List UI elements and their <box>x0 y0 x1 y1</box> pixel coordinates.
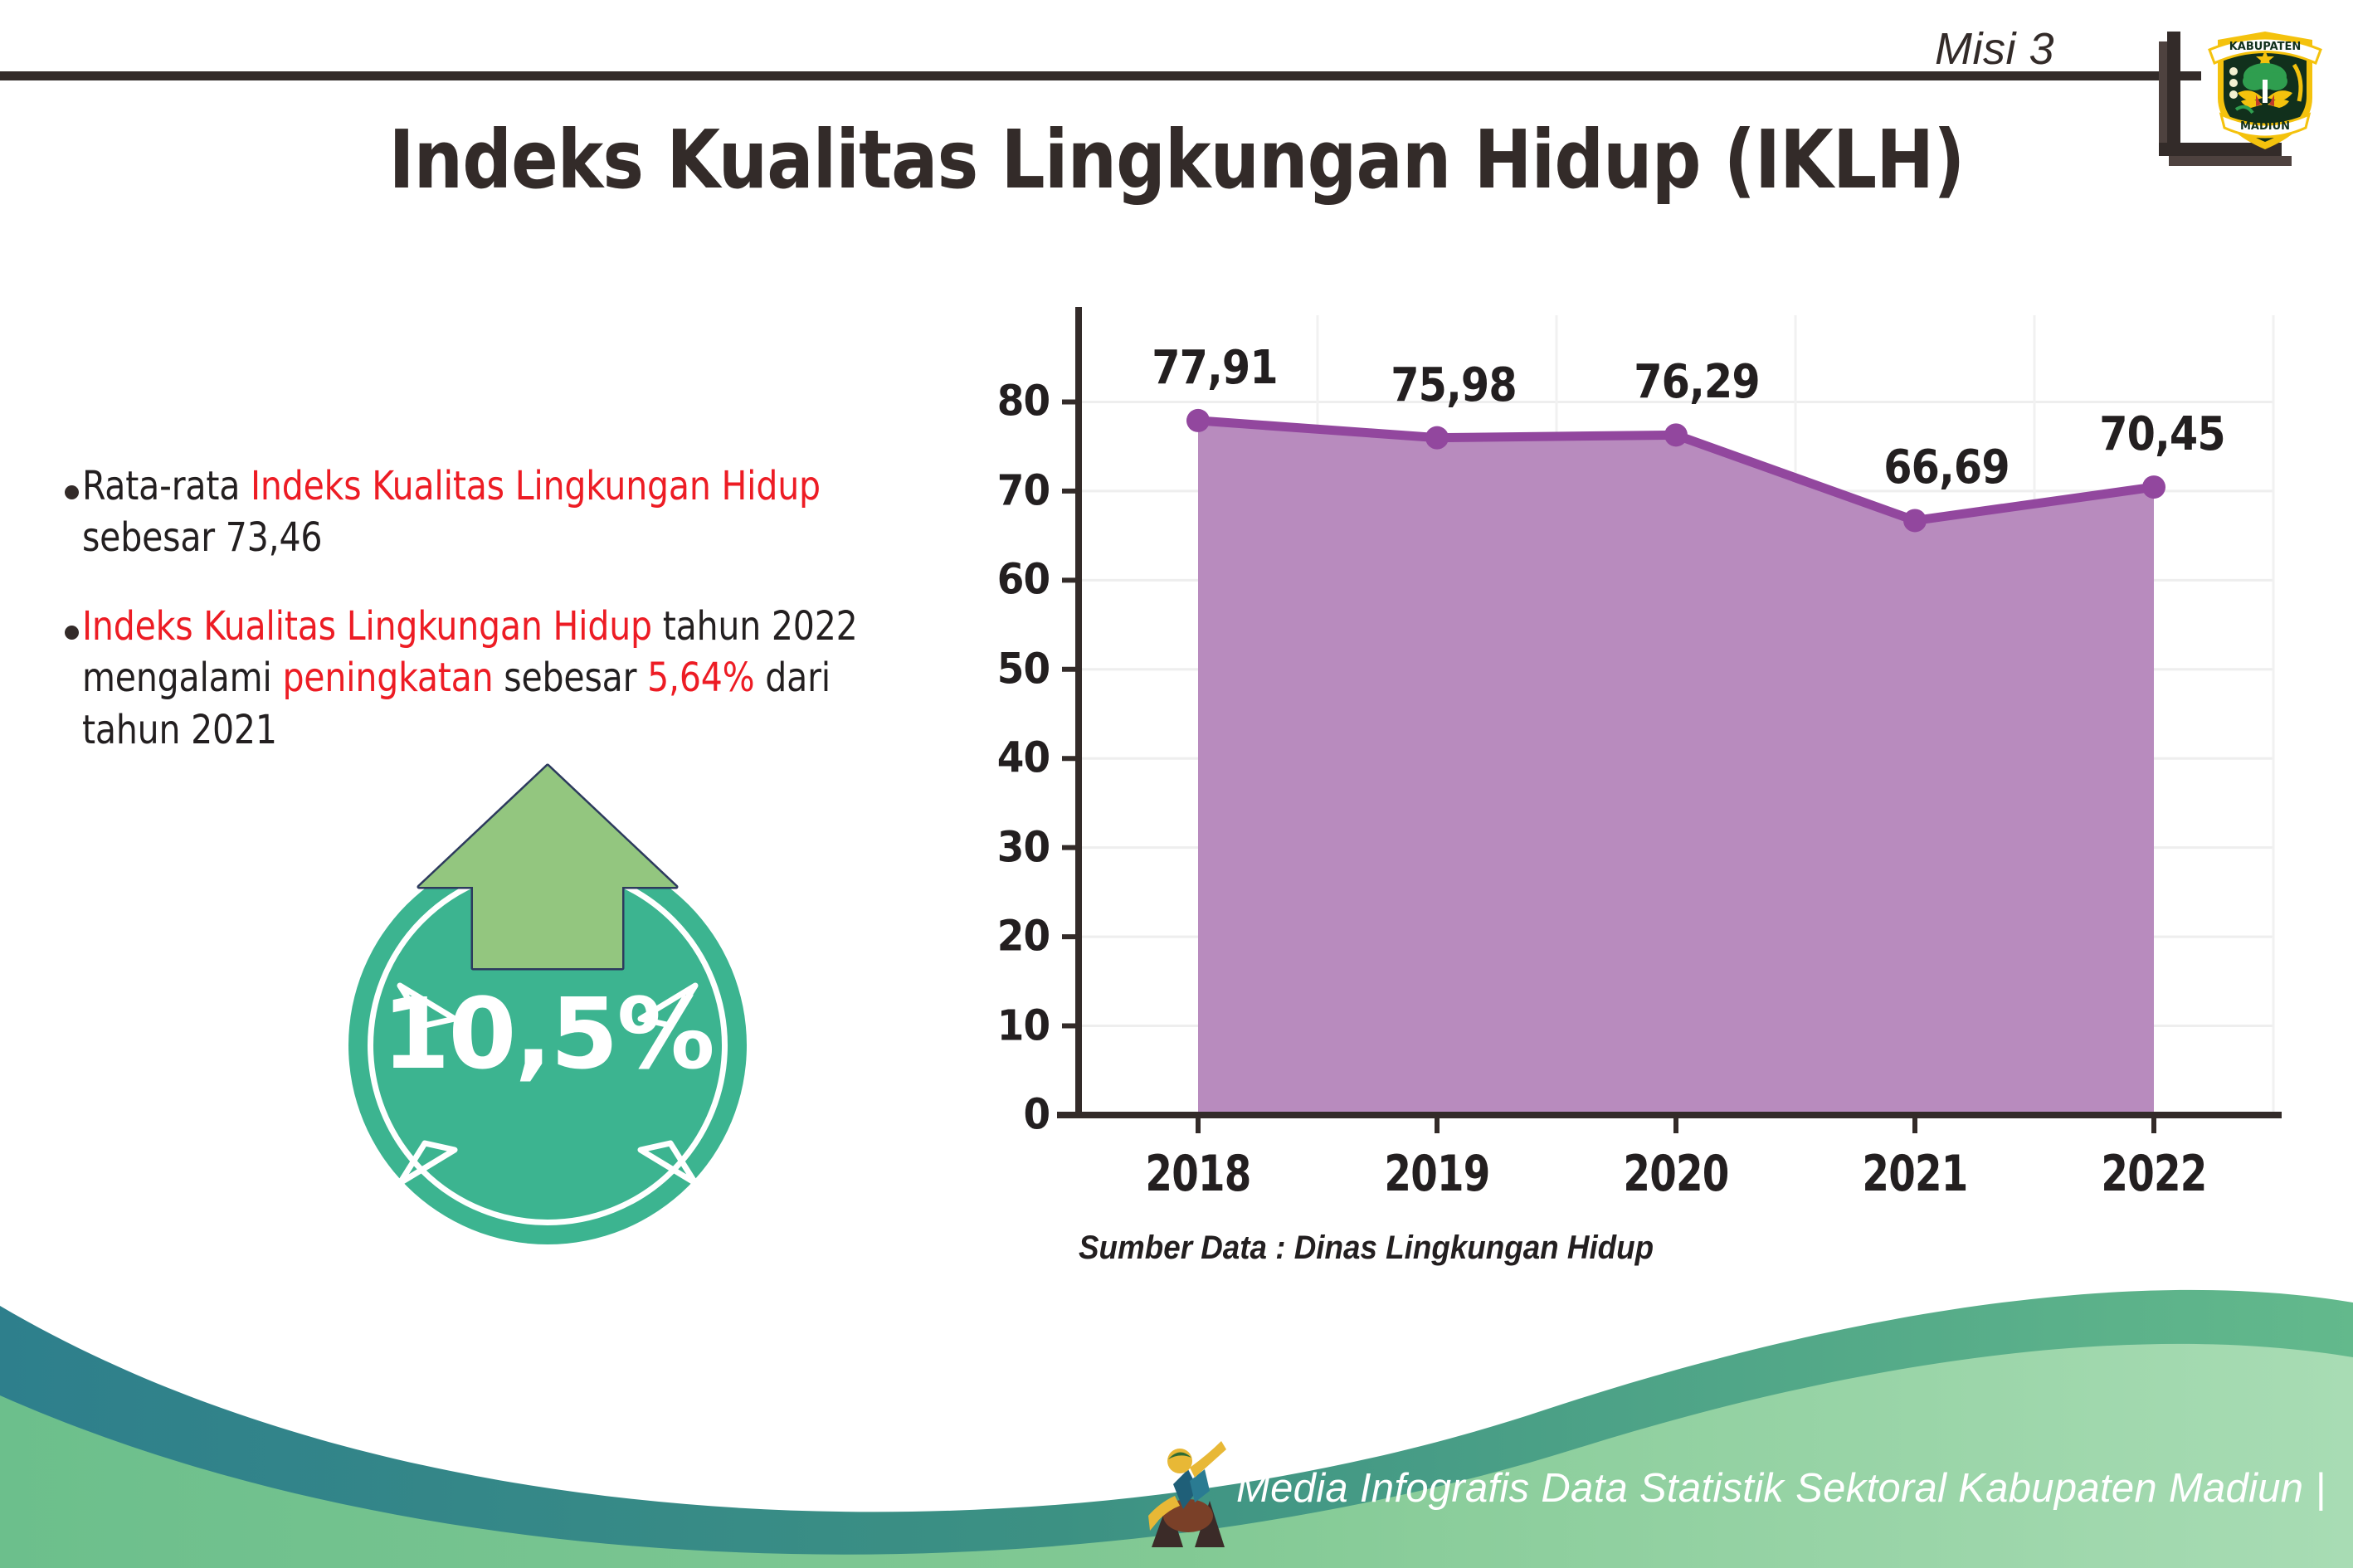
iklh-area-chart: 01020304050607080 20182019202020212022 7… <box>971 299 2290 1195</box>
y-axis-tick-label: 70 <box>958 466 1050 515</box>
y-axis-tick-label: 20 <box>958 913 1050 962</box>
y-axis-tick-label: 60 <box>958 556 1050 605</box>
y-axis-tick-label: 80 <box>958 377 1050 426</box>
data-point-label: 77,91 <box>1127 341 1302 395</box>
header-rule <box>0 71 2201 80</box>
bullet-text: Rata-rata Indeks Kualitas Lingkungan Hid… <box>82 460 901 564</box>
y-axis-tick-label: 40 <box>958 734 1050 783</box>
badge-value: 10,5% <box>328 976 767 1091</box>
y-axis-tick-label: 50 <box>958 645 1050 694</box>
footer: Media Infografis Data Statistik Sektoral… <box>0 1286 2353 1568</box>
bullet-plain: sebesar <box>493 655 647 701</box>
x-axis-tick-label: 2018 <box>1114 1145 1283 1203</box>
bullet-item: Indeks Kualitas Lingkungan Hidup tahun 2… <box>65 601 944 756</box>
y-axis-tick-label: 10 <box>958 1001 1050 1050</box>
bullet-plain: Rata-rata <box>82 463 251 509</box>
kabupaten-madiun-crest-icon: KABUPATEN MADIUN <box>2203 22 2327 154</box>
data-point-label: 70,45 <box>2074 407 2249 461</box>
bullet-dot-icon <box>65 485 79 499</box>
bullet-item: Rata-rata Indeks Kualitas Lingkungan Hid… <box>65 460 944 564</box>
bullet-highlight: peningkatan <box>282 655 493 701</box>
growth-badge: 10,5% <box>328 759 767 1232</box>
source-note: Sumber Data : Dinas Lingkungan Hidup <box>1079 1230 1654 1267</box>
y-axis-tick-label: 0 <box>958 1091 1050 1140</box>
x-axis-tick-label: 2022 <box>2070 1145 2239 1203</box>
x-axis-tick-label: 2020 <box>1592 1145 1761 1203</box>
data-point-label: 66,69 <box>1859 441 2034 494</box>
data-point-label: 75,98 <box>1366 358 1541 412</box>
mission-label: Misi 3 <box>1935 23 2054 75</box>
bullet-highlight: 5,64% <box>647 655 754 701</box>
bullet-dot-icon <box>65 626 79 640</box>
data-point-label: 76,29 <box>1609 355 1784 409</box>
infographic-slide: Misi 3 KABUPATEN MADIUN <box>0 0 2353 1568</box>
y-axis-tick-label: 30 <box>958 823 1050 872</box>
bullet-list: Rata-rata Indeks Kualitas Lingkungan Hid… <box>65 460 944 792</box>
bullet-highlight: Indeks Kualitas Lingkungan Hidup <box>82 603 652 650</box>
footer-text: Media Infografis Data Statistik Sektoral… <box>1236 1465 2326 1512</box>
bullet-text: Indeks Kualitas Lingkungan Hidup tahun 2… <box>82 601 901 756</box>
page-title: Indeks Kualitas Lingkungan Hidup (IKLH) <box>165 113 2189 207</box>
svg-text:MADIUN: MADIUN <box>2240 120 2290 133</box>
x-axis-tick-label: 2021 <box>1831 1145 2000 1203</box>
bullet-plain: sebesar 73,46 <box>82 514 322 561</box>
madiun-dancer-icon <box>1143 1429 1235 1550</box>
x-axis-tick-label: 2019 <box>1353 1145 1522 1203</box>
bullet-highlight: Indeks Kualitas Lingkungan Hidup <box>251 463 821 509</box>
